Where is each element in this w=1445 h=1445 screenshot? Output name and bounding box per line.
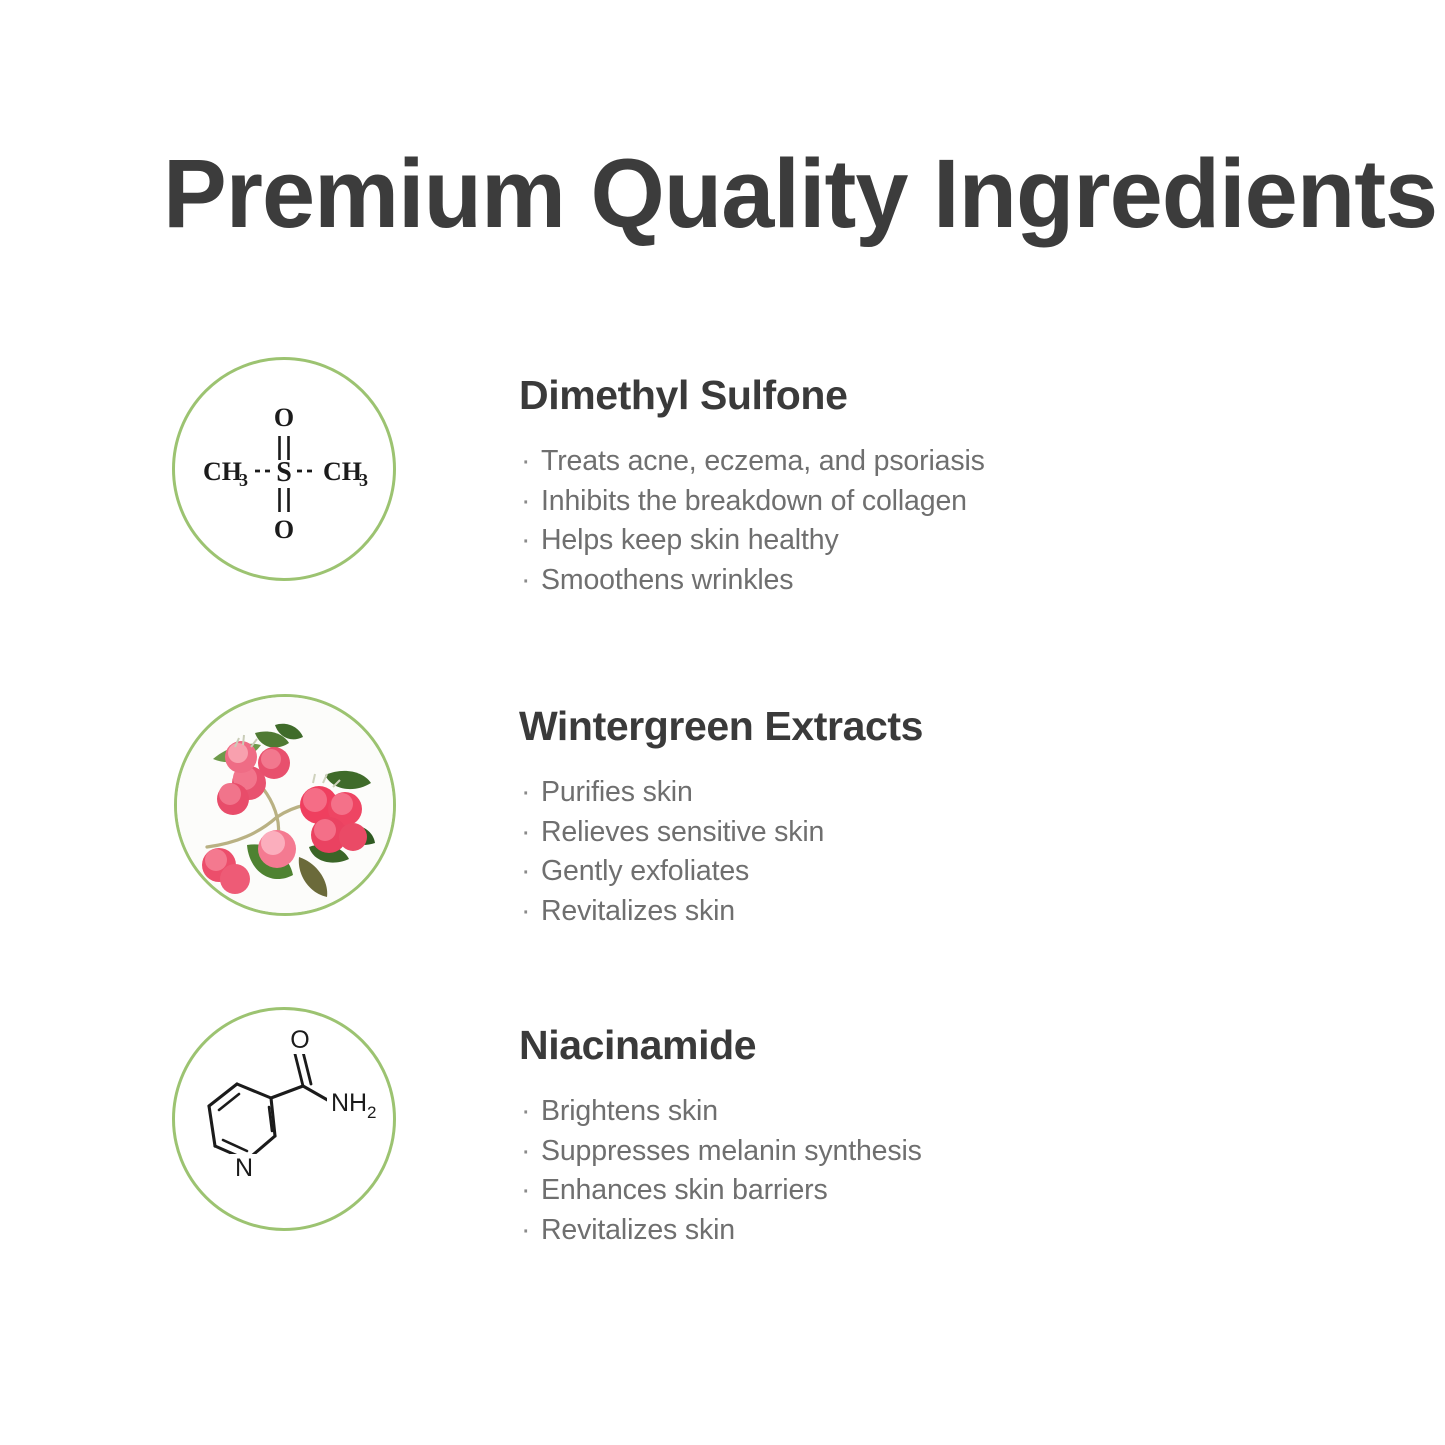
ingredient-name: Niacinamide <box>519 1025 1279 1066</box>
ingredients-infographic: Premium Quality Ingredients O CH 3 S <box>0 0 1445 1445</box>
benefit-list: · Treats acne, eczema, and psoriasis · I… <box>519 442 1279 600</box>
ingredient-item-dimethyl-sulfone: O CH 3 S CH 3 <box>0 357 1445 597</box>
svg-text:O: O <box>274 515 294 544</box>
bullet-icon: · <box>521 813 530 853</box>
benefit-text: Smoothens wrinkles <box>541 564 793 596</box>
bullet-icon: · <box>521 852 530 892</box>
benefit-item: · Revitalizes skin <box>519 892 1279 932</box>
svg-text:NH: NH <box>331 1089 367 1117</box>
benefit-item: · Helps keep skin healthy <box>519 521 1279 561</box>
svg-text:3: 3 <box>239 470 248 490</box>
niacinamide-structure-circle: N O NH 2 <box>172 1007 396 1231</box>
dimethyl-sulfone-structure-circle: O CH 3 S CH 3 <box>172 357 396 581</box>
bullet-icon: · <box>521 1211 530 1251</box>
bullet-icon: · <box>521 482 530 522</box>
benefit-text: Inhibits the breakdown of collagen <box>541 485 967 517</box>
benefit-text: Brightens skin <box>541 1095 718 1127</box>
ingredient-name: Wintergreen Extracts <box>519 706 1279 747</box>
benefit-item: · Treats acne, eczema, and psoriasis <box>519 442 1279 482</box>
ingredient-item-wintergreen-extracts: Wintergreen Extracts · Purifies skin · R… <box>0 688 1445 928</box>
svg-text:O: O <box>290 1026 309 1054</box>
benefit-item: · Revitalizes skin <box>519 1211 1279 1251</box>
benefit-item: · Enhances skin barriers <box>519 1171 1279 1211</box>
svg-text:N: N <box>235 1154 253 1182</box>
wintergreen-berries-photo-circle <box>174 694 396 916</box>
ingredient-item-niacinamide: N O NH 2 Niacinamide · Brightens skin <box>0 1007 1445 1247</box>
svg-text:CH: CH <box>203 457 242 486</box>
benefit-item: · Brightens skin <box>519 1092 1279 1132</box>
bullet-icon: · <box>521 773 530 813</box>
page-title: Premium Quality Ingredients <box>163 143 1266 245</box>
bullet-icon: · <box>521 1132 530 1172</box>
benefit-text: Revitalizes skin <box>541 895 735 927</box>
dimethyl-sulfone-structure-icon: O CH 3 S CH 3 <box>175 360 393 578</box>
svg-text:2: 2 <box>367 1103 376 1122</box>
svg-text:CH: CH <box>323 457 362 486</box>
benefit-list: · Purifies skin · Relieves sensitive ski… <box>519 773 1279 931</box>
benefit-text: Helps keep skin healthy <box>541 524 839 556</box>
benefit-text: Purifies skin <box>541 776 693 808</box>
benefit-item: · Purifies skin <box>519 773 1279 813</box>
ingredient-name: Dimethyl Sulfone <box>519 375 1279 416</box>
benefit-item: · Gently exfoliates <box>519 852 1279 892</box>
bullet-icon: · <box>521 442 530 482</box>
benefit-item: · Relieves sensitive skin <box>519 813 1279 853</box>
ingredient-text-block: Dimethyl Sulfone · Treats acne, eczema, … <box>519 375 1279 600</box>
niacinamide-structure-icon: N O NH 2 <box>175 1010 393 1228</box>
ingredient-text-block: Wintergreen Extracts · Purifies skin · R… <box>519 706 1279 931</box>
benefit-text: Gently exfoliates <box>541 855 749 887</box>
svg-text:3: 3 <box>359 470 368 490</box>
benefit-text: Enhances skin barriers <box>541 1174 828 1206</box>
benefit-item: · Smoothens wrinkles <box>519 561 1279 601</box>
benefit-text: Relieves sensitive skin <box>541 816 824 848</box>
bullet-icon: · <box>521 1092 530 1132</box>
benefit-list: · Brightens skin · Suppresses melanin sy… <box>519 1092 1279 1250</box>
bullet-icon: · <box>521 561 530 601</box>
svg-text:S: S <box>276 457 292 488</box>
benefit-text: Treats acne, eczema, and psoriasis <box>541 445 985 477</box>
wintergreen-berries-photo-icon <box>177 697 393 913</box>
benefit-item: · Suppresses melanin synthesis <box>519 1132 1279 1172</box>
bullet-icon: · <box>521 1171 530 1211</box>
benefit-text: Revitalizes skin <box>541 1214 735 1246</box>
bullet-icon: · <box>521 521 530 561</box>
ingredient-text-block: Niacinamide · Brightens skin · Suppresse… <box>519 1025 1279 1250</box>
svg-text:O: O <box>274 403 294 432</box>
benefit-item: · Inhibits the breakdown of collagen <box>519 482 1279 522</box>
benefit-text: Suppresses melanin synthesis <box>541 1135 922 1167</box>
bullet-icon: · <box>521 892 530 932</box>
